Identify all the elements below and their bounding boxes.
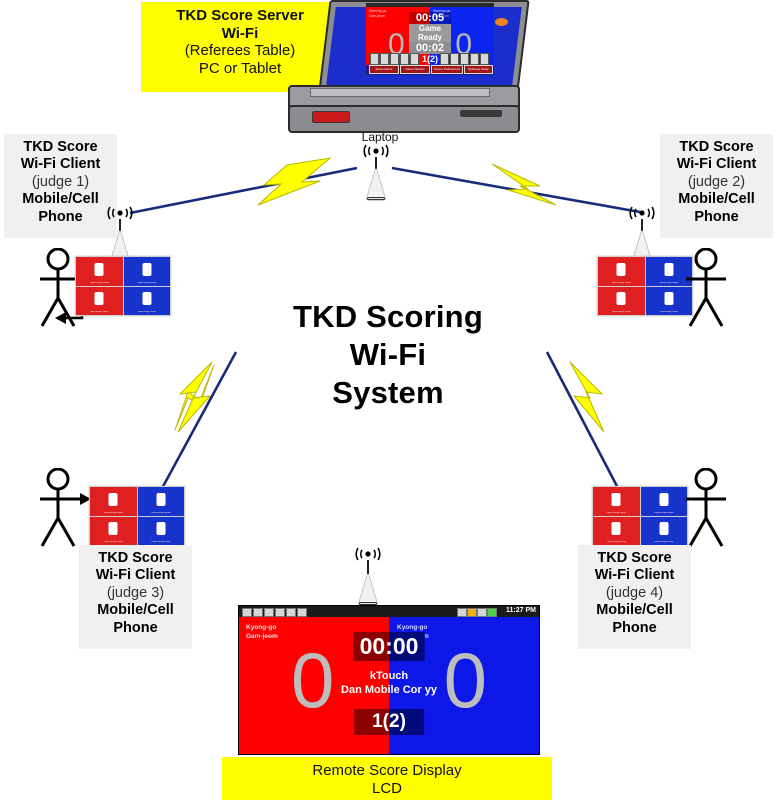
head-target-icon (156, 493, 165, 506)
lcd-round-indicator: 1(2) (354, 709, 424, 735)
app-icon[interactable] (450, 53, 459, 65)
app-button-row: Reset Game Game Options Server Preferenc… (366, 65, 494, 75)
status-icon (242, 608, 252, 617)
antenna-dot-icon (365, 551, 370, 556)
link-laptop-judge2 (392, 164, 640, 212)
body-target-icon (109, 522, 118, 535)
judge-2-antenna (623, 206, 661, 262)
judge-1-score-pad[interactable]: Tap/Jireugi Head Tap/Jireugi Head Tap/Ji… (75, 256, 171, 316)
pad-cell-label: Tap/Jireugi Head (124, 282, 171, 285)
body-target-icon (617, 292, 626, 305)
remote-caption-line1: Remote Score Display (230, 762, 544, 780)
judge-1-line5: Phone (10, 209, 111, 226)
judge-3-line4: Mobile/Cell (85, 602, 186, 619)
pad-cell-label: Tap/Jireugi Body (124, 311, 171, 314)
head-target-icon (142, 263, 151, 276)
app-red-warning: Warning-go Gam-jeom (369, 9, 386, 19)
status-icon (264, 608, 274, 617)
judge-3-label: TKD Score Wi-Fi Client (judge 3) Mobile/… (79, 545, 192, 649)
judge-2-line1: TKD Score (666, 139, 767, 156)
status-icon (286, 608, 296, 617)
pad-cell-label: Tap/Jireugi Head (90, 512, 137, 515)
judge-2-label: TKD Score Wi-Fi Client (judge 2) Mobile/… (660, 134, 773, 238)
app-icon-row (366, 53, 494, 65)
judge-2-line4: Mobile/Cell (666, 191, 767, 208)
judge-3-line1: TKD Score (85, 550, 186, 567)
scoring-app-screen: Warning-go Gam-jeom Warning-go Gam-jeom … (366, 3, 494, 75)
laptop-caption: Laptop (335, 130, 425, 144)
head-target-icon (95, 263, 104, 276)
diagram-title: TKD Scoring Wi-Fi System (268, 298, 508, 411)
laptop-touchpad (312, 111, 350, 123)
pad-cell-red-head[interactable]: Tap/Jireugi Head (76, 257, 123, 286)
judge-3-person (32, 468, 94, 548)
judge-1-antenna (101, 206, 139, 262)
battery-icon (487, 608, 497, 617)
judge-1-line1: TKD Score (10, 139, 111, 156)
pad-cell-blue-body[interactable]: Tap/Jireugi Body (124, 287, 171, 316)
lcd-app-title-line2: Dan Mobile Cor yy (341, 683, 437, 697)
lcd-app-title: kTouch Dan Mobile Cor yy (341, 669, 437, 698)
laptop-led-icon (495, 18, 508, 26)
antenna-dot-icon (639, 210, 644, 215)
pad-cell-red-head[interactable]: Tap/Jireugi Head (90, 487, 137, 516)
laptop-base-slot (310, 88, 490, 97)
diagram-title-line2: Wi-Fi (268, 336, 508, 374)
lcd-red-warn-line2: Gam-jeom (246, 633, 278, 642)
app-timer-top: 00:05 (409, 12, 451, 24)
diagram-title-line1: TKD Scoring (268, 298, 508, 336)
pad-cell-red-body[interactable]: Tap/Jireugi Body (598, 287, 645, 316)
lcd-match-timer: 00:00 (354, 632, 425, 661)
judge-3-line2: Wi-Fi Client (85, 567, 186, 584)
pad-cell-label: Tap/Jireugi Head (138, 512, 185, 515)
judge-4-line3: (judge 4) (584, 585, 685, 602)
pad-cell-label: Tap/Jireugi Body (138, 541, 185, 544)
pad-cell-blue-head[interactable]: Tap/Jireugi Head (138, 487, 185, 516)
pad-cell-label: Tap/Jireugi Head (598, 282, 645, 285)
lcd-status-bar: 11:27 PM (239, 606, 539, 617)
pad-cell-blue-body[interactable]: Tap/Jireugi Body (138, 517, 185, 546)
app-icon[interactable] (410, 53, 419, 65)
head-target-icon (617, 263, 626, 276)
judge-3-pointer-arrow (58, 492, 92, 506)
lcd-app-title-line1: kTouch (341, 669, 437, 683)
remote-caption-line2: LCD (230, 780, 544, 798)
signal-icon (477, 608, 487, 617)
judge-2-line5: Phone (666, 209, 767, 226)
pad-cell-red-body[interactable]: Tap/Jireugi Body (90, 517, 137, 546)
body-target-icon (95, 292, 104, 305)
app-server-preferences-button[interactable]: Server Preferences (431, 65, 463, 74)
lcd-red-score: 0 (291, 650, 334, 711)
judge-2-line2: Wi-Fi Client (666, 156, 767, 173)
head-target-icon (659, 493, 668, 506)
head-target-icon (664, 263, 673, 276)
app-icon[interactable] (370, 53, 379, 65)
app-game-options-button[interactable]: Game Options (400, 65, 430, 74)
lcd-red-warn-line1: Kyong-go (246, 624, 278, 633)
body-target-icon (664, 292, 673, 305)
app-referees-setup-button[interactable]: Referees Setup (464, 65, 493, 74)
judge-3-line3: (judge 3) (85, 585, 186, 602)
judge-1-line4: Mobile/Cell (10, 191, 111, 208)
pad-cell-label: Tap/Jireugi Body (598, 311, 645, 314)
body-target-icon (659, 522, 668, 535)
pad-cell-label: Tap/Jireugi Body (90, 541, 137, 544)
judge-3-score-pad[interactable]: Tap/Jireugi Head Tap/Jireugi Head Tap/Ji… (89, 486, 185, 546)
judge-3-line5: Phone (85, 620, 186, 637)
remote-display-antenna (349, 547, 387, 605)
app-reset-game-button[interactable]: Reset Game (369, 65, 399, 74)
status-icon (253, 608, 263, 617)
app-icon[interactable] (400, 53, 409, 65)
diagram-title-line3: System (268, 374, 508, 412)
link-laptop-judge4 (547, 352, 620, 492)
pad-cell-label: Tap/Jireugi Head (76, 282, 123, 285)
lcd-status-time: 11:27 PM (506, 607, 536, 614)
app-icon[interactable] (480, 53, 489, 65)
laptop-graphic: Warning-go Gam-jeom Warning-go Gam-jeom … (280, 0, 530, 130)
laptop-antenna (357, 144, 395, 200)
head-target-icon (109, 493, 118, 506)
remote-score-display: 11:27 PM Kyong-go Gam-jeom Kyong-go Gam-… (238, 605, 540, 755)
laptop-screen: Warning-go Gam-jeom Warning-go Gam-jeom … (366, 3, 494, 75)
antenna-dot-icon (373, 148, 378, 153)
app-icon[interactable] (380, 53, 389, 65)
body-target-icon (612, 522, 621, 535)
body-target-icon (156, 522, 165, 535)
pad-cell-blue-head[interactable]: Tap/Jireugi Head (124, 257, 171, 286)
judge-4-score-pad[interactable]: Tap/Jireugi Head Tap/Jireugi Head Tap/Ji… (592, 486, 688, 546)
app-icon[interactable] (390, 53, 399, 65)
judge-2-line3: (judge 2) (666, 174, 767, 191)
app-state-line1: Game (409, 24, 451, 33)
antenna-base (359, 573, 377, 603)
lcd-blue-score: 0 (444, 650, 487, 711)
judge-4-line4: Mobile/Cell (584, 602, 685, 619)
antenna-base (367, 168, 385, 198)
judge-2-person (676, 248, 738, 328)
body-target-icon (142, 292, 151, 305)
judge-1-line3: (judge 1) (10, 174, 111, 191)
status-icon (297, 608, 307, 617)
laptop-speaker-grille (460, 110, 502, 117)
app-icon[interactable] (460, 53, 469, 65)
app-icon[interactable] (440, 53, 449, 65)
judge-4-label: TKD Score Wi-Fi Client (judge 4) Mobile/… (578, 545, 691, 649)
lcd-red-warnings: Kyong-go Gam-jeom (246, 624, 278, 642)
judge-4-line1: TKD Score (584, 550, 685, 567)
pad-cell-label: Tap/Jireugi Body (76, 311, 123, 314)
status-icon (275, 608, 285, 617)
judge-4-line5: Phone (584, 620, 685, 637)
app-red-warning-line2: Gam-jeom (369, 14, 386, 19)
head-target-icon (612, 493, 621, 506)
antenna-dot-icon (117, 210, 122, 215)
app-state-line2: Ready (409, 33, 451, 42)
pad-cell-red-head[interactable]: Tap/Jireugi Head (593, 487, 640, 516)
judge-4-person (676, 468, 738, 548)
pad-cell-label: Tap/Jireugi Head (593, 512, 640, 515)
wifi-status-icon (467, 608, 477, 617)
judge-1-line2: Wi-Fi Client (10, 156, 111, 173)
bluetooth-icon (457, 608, 467, 617)
remote-display-caption-box: Remote Score Display LCD (222, 757, 552, 800)
link-laptop-judge1 (130, 158, 357, 213)
antenna-mast (367, 560, 369, 574)
pad-cell-red-head[interactable]: Tap/Jireugi Head (598, 257, 645, 286)
pad-cell-red-body[interactable]: Tap/Jireugi Body (593, 517, 640, 546)
pad-cell-red-body[interactable]: Tap/Jireugi Body (76, 287, 123, 316)
app-icon[interactable] (470, 53, 479, 65)
judge-4-line2: Wi-Fi Client (584, 567, 685, 584)
pad-cell-label: Tap/Jireugi Body (593, 541, 640, 544)
